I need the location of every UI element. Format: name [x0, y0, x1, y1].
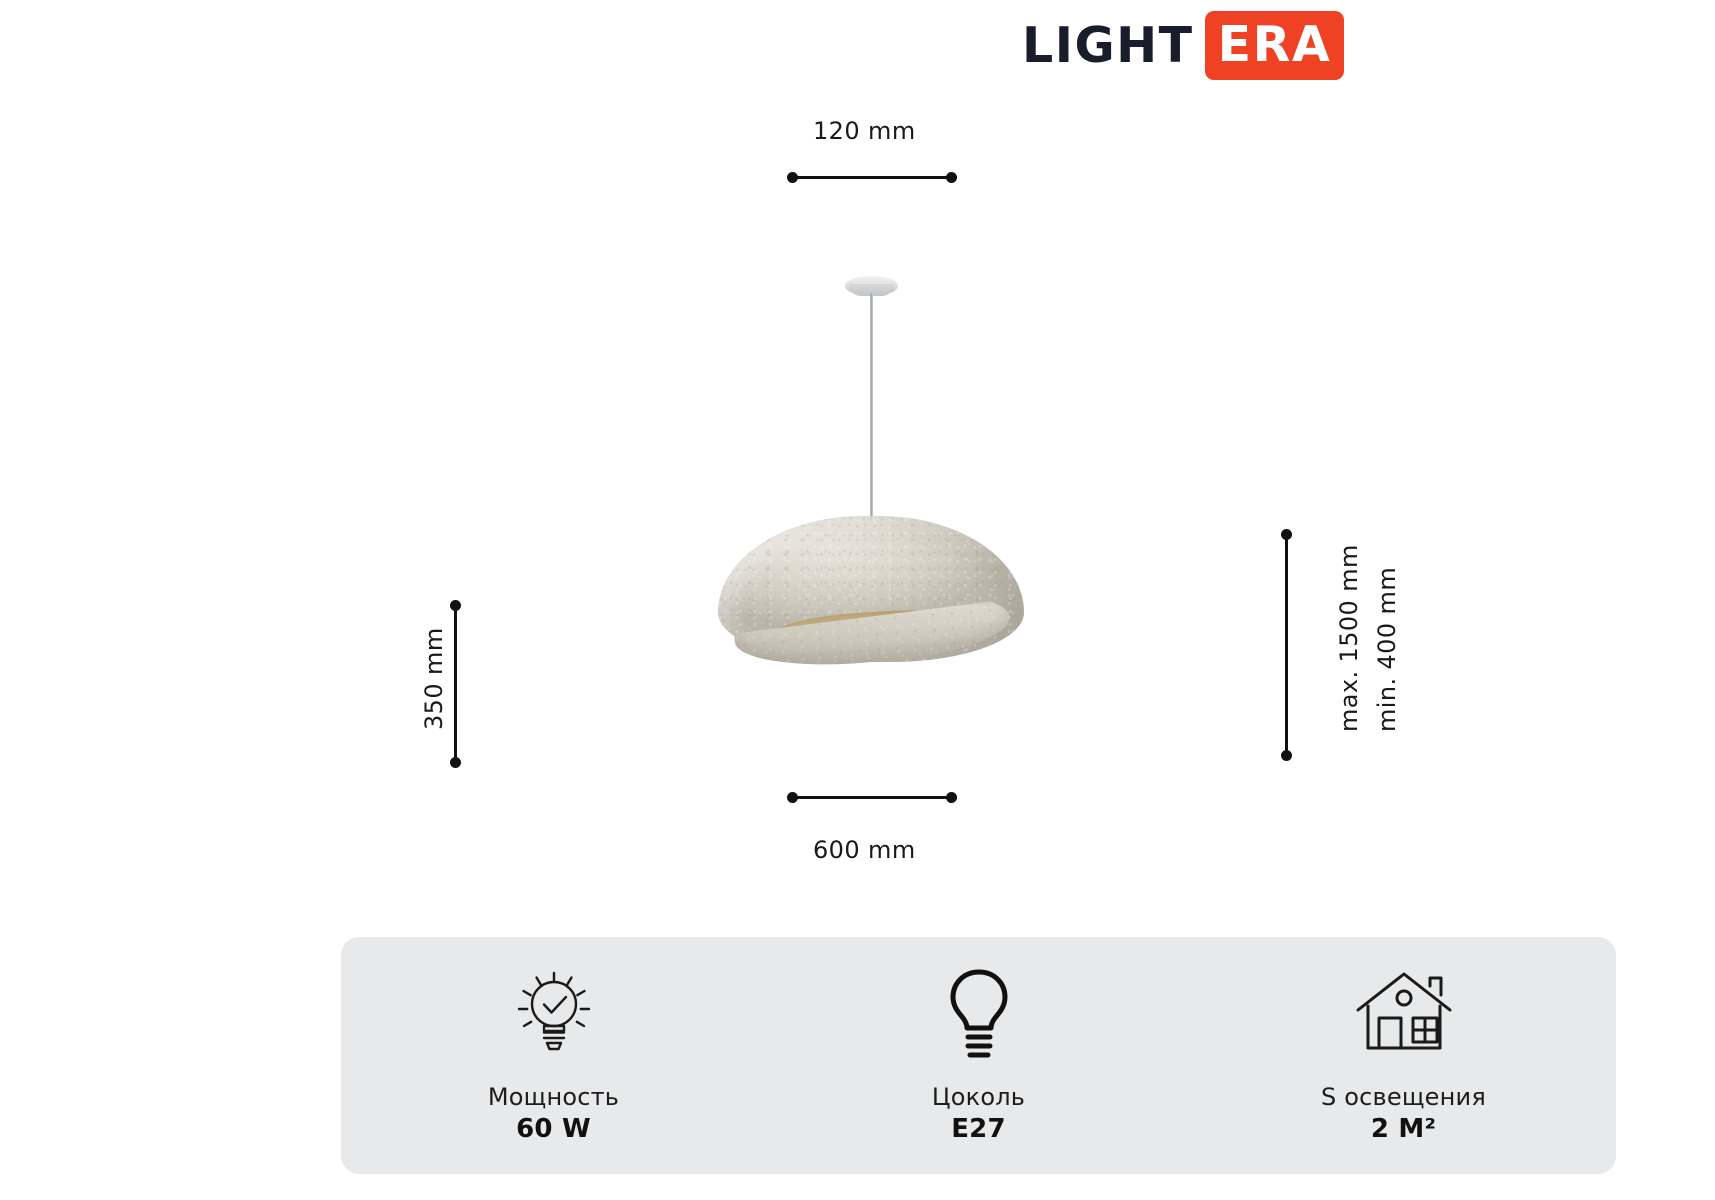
- suspension-cord: [870, 293, 873, 521]
- dimension-endpoint-top-left: [787, 172, 798, 183]
- spec-value-socket: E27: [951, 1112, 1006, 1147]
- dimension-endpoint-bottom-left: [787, 792, 798, 803]
- dimension-line-suspension: [1285, 534, 1288, 756]
- dimension-line-height: [454, 605, 457, 764]
- spec-value-power: 60 W: [516, 1112, 591, 1147]
- bulb-socket-icon: [942, 964, 1016, 1060]
- dimension-label-height: 350 mm: [420, 627, 448, 730]
- dimension-endpoint-suspension-top: [1281, 529, 1292, 540]
- dimension-label-top-width: 120 mm: [813, 117, 916, 145]
- dimension-endpoint-height-top: [450, 600, 461, 611]
- specification-panel: Мощность 60 W Цоколь E27 S освещени: [341, 937, 1616, 1174]
- spec-item-lighting-area: S освещения 2 M²: [1191, 964, 1616, 1147]
- spec-item-power: Мощность 60 W: [341, 964, 766, 1147]
- dimension-line-bottom-width: [792, 796, 957, 799]
- spec-value-lighting-area: 2 M²: [1371, 1112, 1436, 1147]
- dimension-line-top-width: [792, 176, 957, 179]
- house-icon: [1352, 964, 1456, 1060]
- spec-title-lighting-area: S освещения: [1321, 1082, 1486, 1112]
- dimension-label-bottom-width: 600 mm: [813, 836, 916, 864]
- dimension-label-suspension-min: min. 400 mm: [1373, 567, 1401, 732]
- lamp-shade: [718, 516, 1024, 668]
- product-illustration: 120 mm 600 mm 350 mm max. 1500 mm min. 4…: [0, 0, 1715, 880]
- dimension-label-suspension-max: max. 1500 mm: [1335, 544, 1363, 732]
- spec-title-power: Мощность: [488, 1082, 619, 1112]
- dimension-endpoint-suspension-bottom: [1281, 750, 1292, 761]
- dimension-endpoint-height-bottom: [450, 757, 461, 768]
- spec-item-socket: Цоколь E27: [766, 964, 1191, 1147]
- spec-title-socket: Цоколь: [932, 1082, 1025, 1112]
- dimension-endpoint-top-right: [946, 172, 957, 183]
- bulb-check-icon: [508, 964, 600, 1060]
- dimension-endpoint-bottom-right: [946, 792, 957, 803]
